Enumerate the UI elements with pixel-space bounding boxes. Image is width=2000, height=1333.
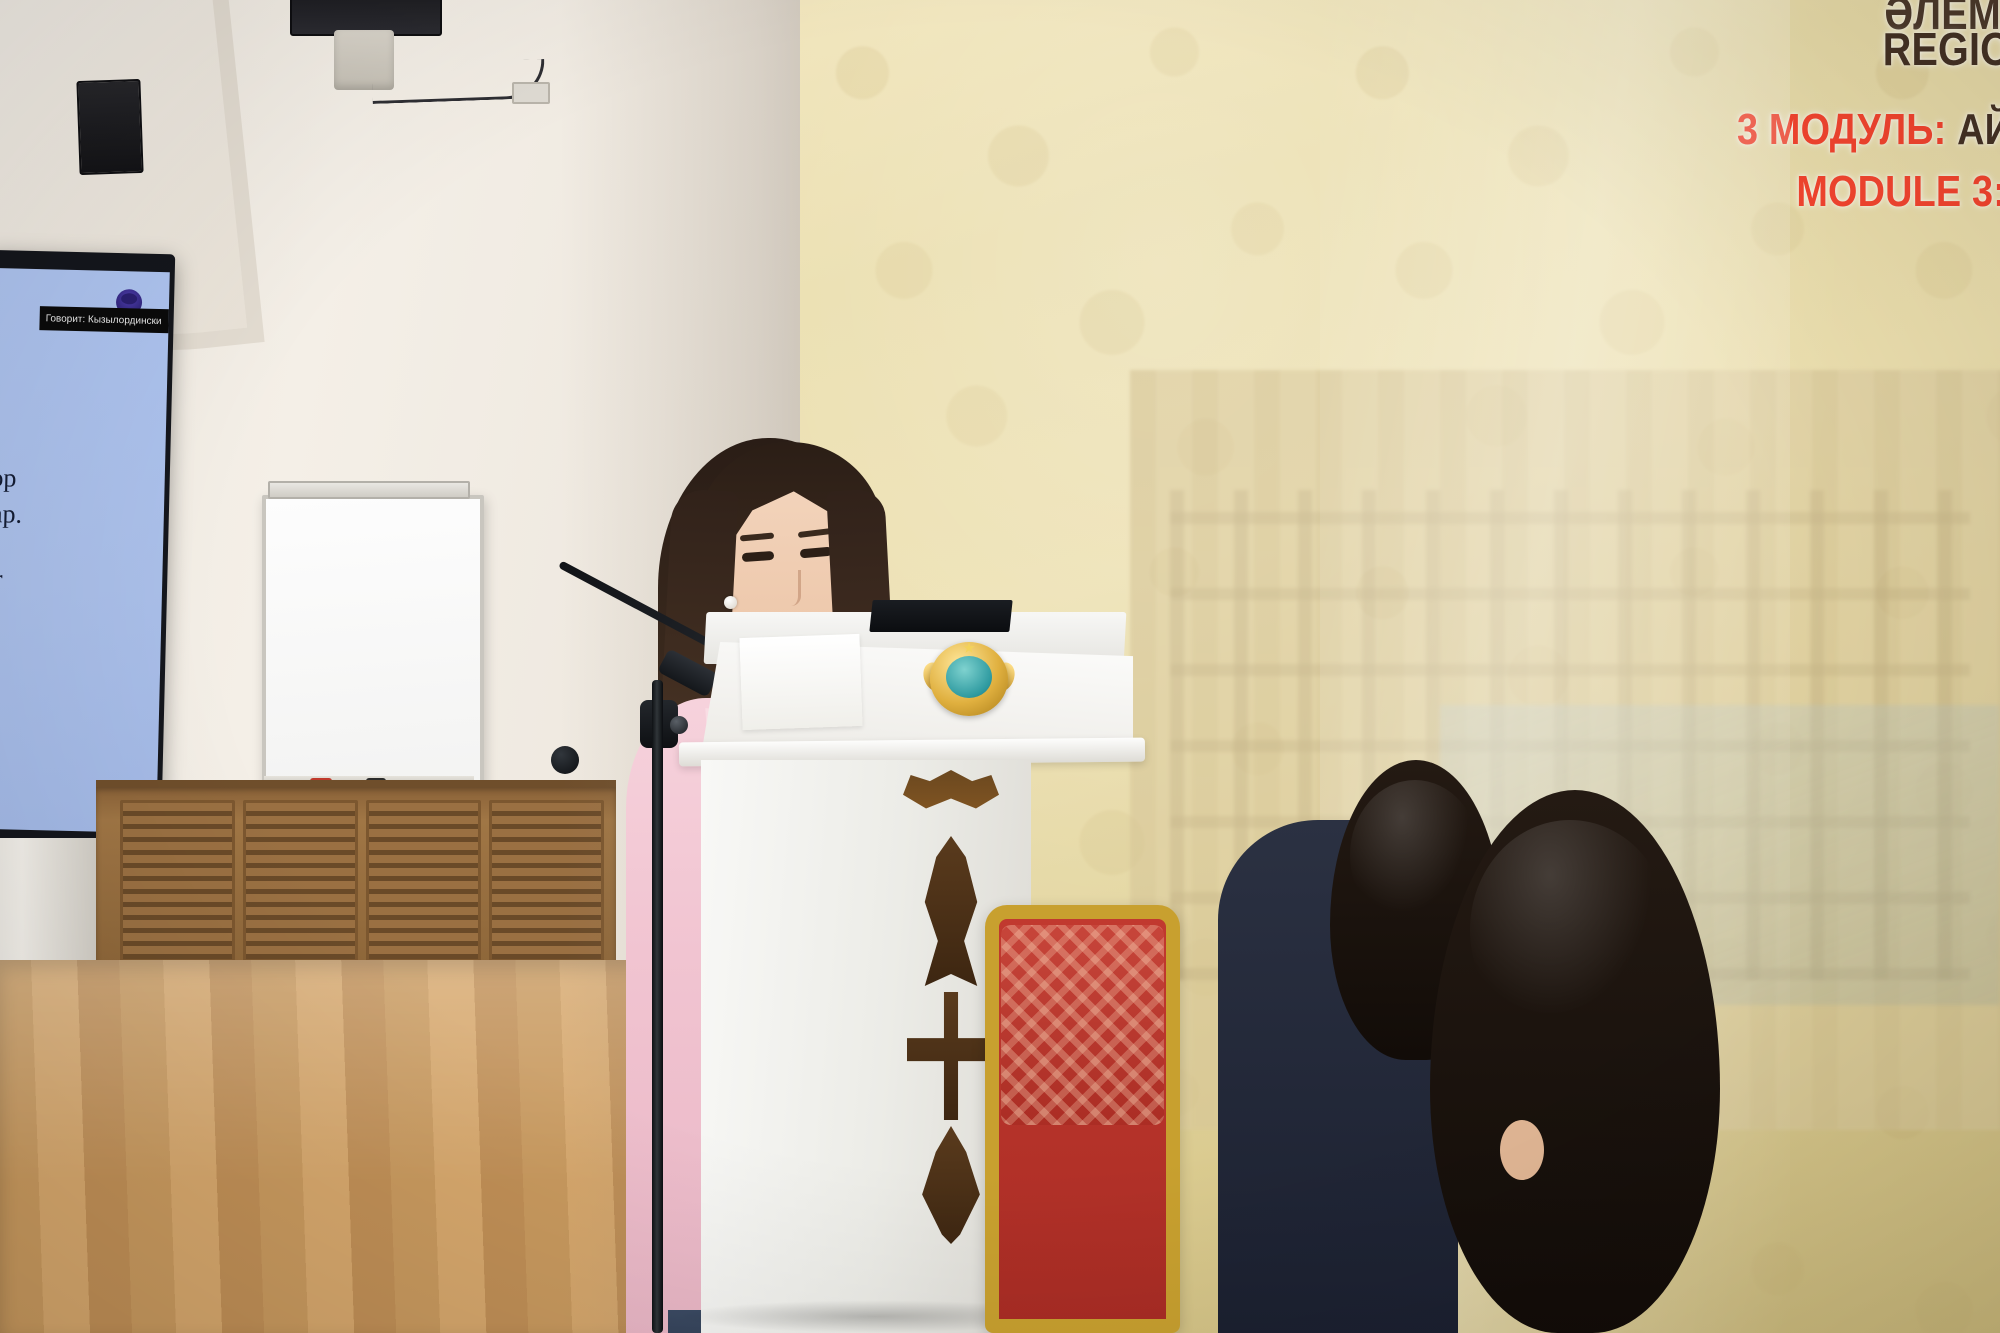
caption-bar: Говорит: Кызылордински [39, 306, 169, 334]
chair-upholstery [1001, 925, 1164, 1125]
mic-stand-boom-counterweight [551, 746, 579, 774]
podium-notes-paper [739, 634, 862, 730]
podium-monitor [869, 600, 1012, 632]
ornament-segment [913, 1126, 989, 1244]
audience-member-ear [1500, 1120, 1544, 1180]
grille-panel [366, 800, 481, 962]
hair-highlight [1350, 780, 1480, 930]
slide-bullet: ger to develop [0, 460, 170, 499]
slide-bullet: T specialists [0, 662, 170, 701]
ornament-segment [903, 770, 999, 832]
tv-screen: Говорит: Кызылордински Now nts, ethical … [0, 268, 170, 833]
banner-line-en-top: REGIONAL LEADERSHIP [1883, 22, 2000, 76]
wall-mounted-tv: Говорит: Кызылордински Now nts, ethical … [0, 250, 175, 849]
wall-speaker [76, 79, 143, 175]
emblem-shanyrak [946, 656, 992, 698]
slide-bullet: as with [0, 727, 170, 766]
ornament-segment [907, 992, 995, 1120]
slide-bullet: und that over [0, 561, 170, 600]
audience-chair [985, 905, 1180, 1333]
wall-outlet [512, 82, 550, 104]
flipchart-board [262, 495, 484, 798]
banner-line-text: REGIONAL LEADERSHIP [1883, 23, 2000, 75]
radiator-grille [120, 800, 612, 962]
slide-bullet: cant skills gap. [0, 496, 170, 535]
kazakhstan-state-emblem-icon [930, 642, 1008, 716]
banner-line-module3-kz: 3 МОДУЛЬ: АЙМАҚТЫҚ БІЛІМ БЕРУДІ ҚАЛА [1737, 105, 2000, 155]
banner-line-prefix: 3 МОДУЛЬ: [1737, 105, 1946, 154]
grille-panel [243, 800, 358, 962]
slide-body: nts, ethical ger to develop cant skills … [0, 395, 170, 833]
caption-text: Говорит: Кызылордински [40, 313, 162, 327]
banner-line-module3-en: MODULE 3: HOW CAN REGIONAL EDUCA [1796, 167, 2000, 217]
banner-line-prefix: MODULE 3: [1796, 167, 2000, 216]
flipchart-clamp [268, 481, 470, 499]
ornament-segment [910, 836, 992, 986]
hair-highlight [1470, 820, 1670, 1040]
banner-line-text: АЙМАҚТЫҚ БІЛІМ БЕРУДІ ҚАЛА [1957, 105, 2000, 154]
grille-panel [120, 800, 235, 962]
slide-bullet: ormal [0, 598, 170, 637]
slide-bullet: nts, ethical [0, 395, 170, 434]
photo-stage: Говорит: Кызылордински Now nts, ethical … [0, 0, 2000, 1333]
